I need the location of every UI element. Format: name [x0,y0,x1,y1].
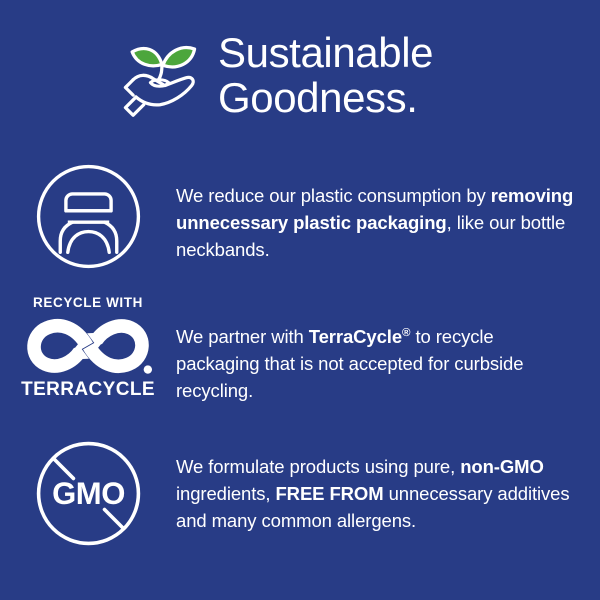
infinity-loop-arrows-icon [20,315,156,377]
no-gmo-icon: GMO [32,437,145,550]
feature-row-plastic-reduction: We reduce our plastic consumption by rem… [0,160,600,295]
feature-text-terracycle: We partner with TerraCycle® to recycle p… [176,295,600,404]
feature-icon-slot: GMO [0,437,176,550]
feature-row-terracycle: RECYCLE WITH [0,295,600,437]
hand-holding-sprout-icon [112,26,208,122]
sustainable-goodness-panel: Sustainable Goodness. [0,0,600,600]
no-gmo-icon-label: GMO [52,476,125,511]
terracycle-logo: RECYCLE WITH [17,295,159,401]
bottle-neckband-icon [32,160,145,273]
feature-row-non-gmo: GMO We formulate products using pure, no… [0,437,600,577]
page-header: Sustainable Goodness. [0,26,600,122]
feature-list: We reduce our plastic consumption by rem… [0,160,600,577]
feature-text-plastic-reduction: We reduce our plastic consumption by rem… [176,160,600,263]
feature-text-non-gmo: We formulate products using pure, non-GM… [176,437,600,534]
terracycle-top-label: RECYCLE WITH [33,295,143,311]
page-title-line-1: Sustainable [218,30,433,75]
feature-icon-slot [0,160,176,273]
terracycle-bottom-label: TERRACYCLE [21,379,155,401]
page-title-line-2: Goodness. [218,75,433,120]
page-title: Sustainable Goodness. [218,28,433,120]
feature-icon-slot: RECYCLE WITH [0,295,176,401]
